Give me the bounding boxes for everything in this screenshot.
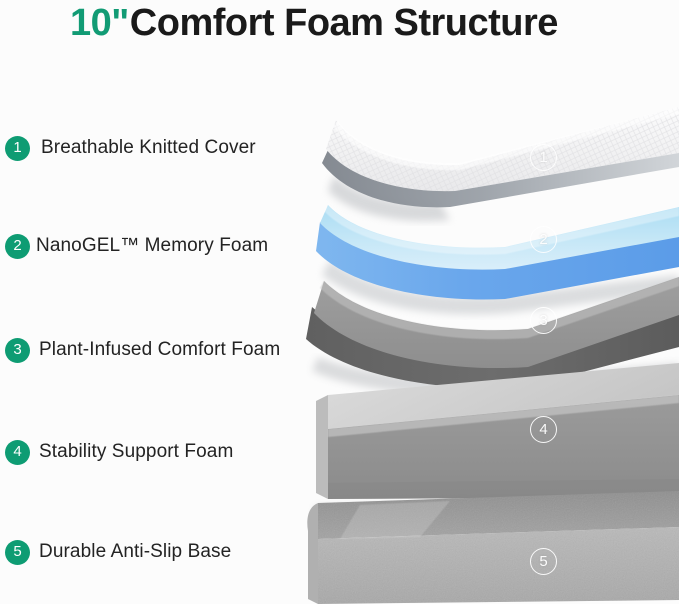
layer-badge-1: 1 [530,144,557,171]
layer-badge-5: 5 [530,548,557,575]
layer-5-shape [307,491,679,604]
legend-item-1: 1 Breathable Knitted Cover [5,134,256,162]
title-text: Comfort Foam Structure [130,2,558,44]
legend-label-4: Stability Support Foam [39,441,233,463]
legend-label-3: Plant-Infused Comfort Foam [39,339,280,361]
legend-badge-5: 5 [5,540,30,565]
layer-badge-4: 4 [530,416,557,443]
legend-item-2: 2 NanoGEL™ Memory Foam [5,232,268,260]
legend-badge-3: 3 [5,338,30,363]
foam-structure-infographic: 10"Comfort Foam Structure 1 Breathable K… [0,0,679,604]
legend-item-4: 4 Stability Support Foam [5,438,233,466]
page-title: 10"Comfort Foam Structure [70,2,558,45]
legend-badge-1: 1 [5,136,30,161]
layer-badge-2: 2 [530,226,557,253]
title-measurement: 10" [70,2,129,44]
legend-item-3: 3 Plant-Infused Comfort Foam [5,336,280,364]
legend-badge-4: 4 [5,440,30,465]
foam-layer-illustration: 1 2 3 4 5 [300,95,679,604]
legend-badge-2: 2 [5,234,30,259]
legend-item-5: 5 Durable Anti-Slip Base [5,538,231,566]
layer-1-shape [322,107,679,221]
legend-label-5: Durable Anti-Slip Base [39,541,231,563]
legend-label-1: Breathable Knitted Cover [41,137,256,159]
layer-badge-3: 3 [530,307,557,334]
legend-label-2: NanoGEL™ Memory Foam [36,235,268,257]
